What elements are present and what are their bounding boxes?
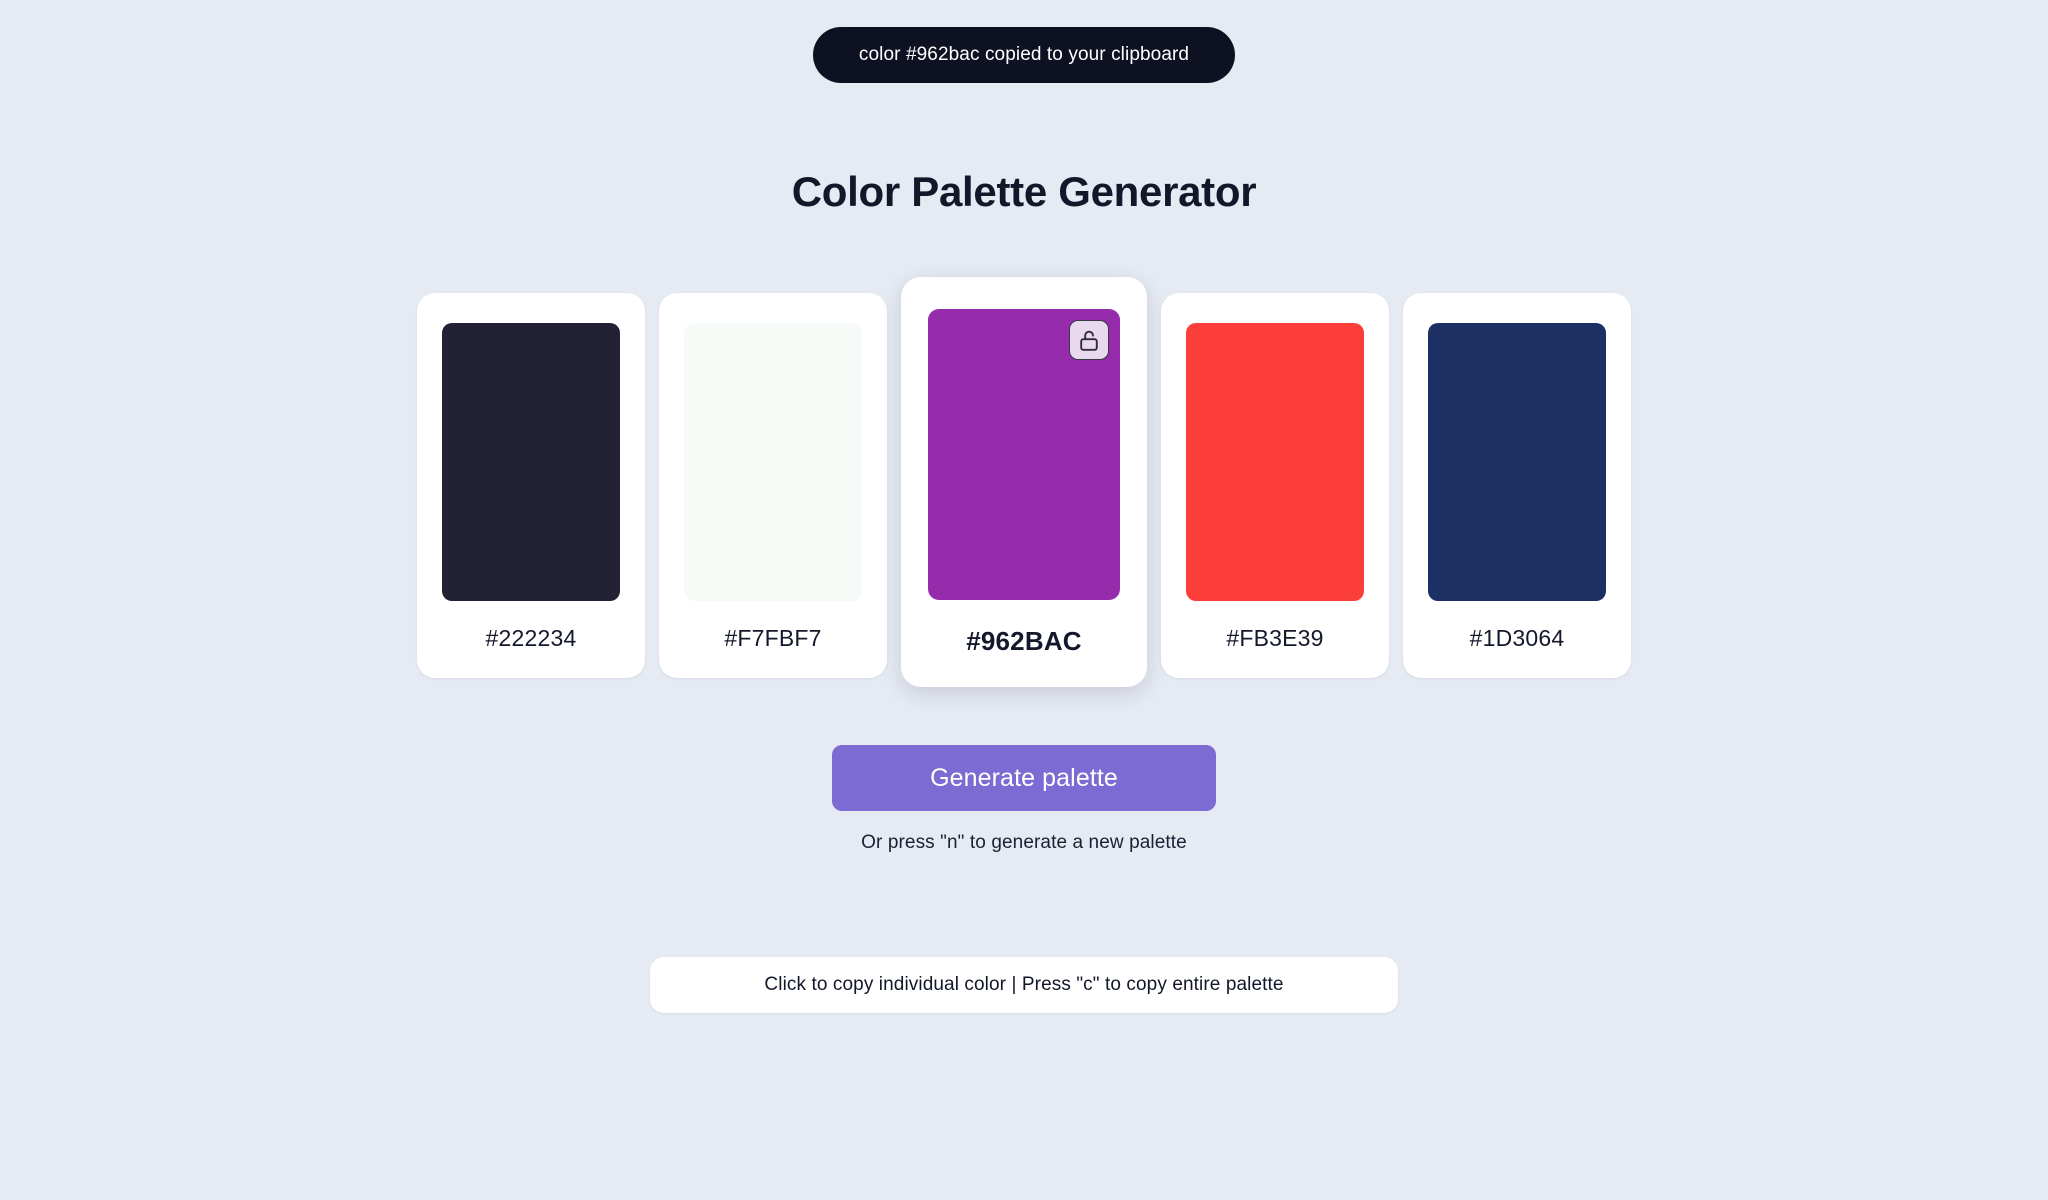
swatch-card[interactable]: #222234 bbox=[417, 293, 645, 678]
swatch-card-active[interactable]: #962BAC bbox=[901, 277, 1147, 687]
copy-hint-bar: Click to copy individual color | Press "… bbox=[650, 957, 1398, 1013]
generate-palette-button[interactable]: Generate palette bbox=[832, 745, 1216, 811]
palette-row: #222234 #F7FBF7 #962BAC #FB3E39 #1D3064 bbox=[0, 260, 2048, 540]
footer-container: Click to copy individual color | Press "… bbox=[0, 957, 2048, 1013]
clipboard-toast: color #962bac copied to your clipboard bbox=[813, 27, 1235, 83]
color-chip[interactable] bbox=[442, 323, 620, 601]
color-chip[interactable] bbox=[1186, 323, 1364, 601]
swatch-card[interactable]: #FB3E39 bbox=[1161, 293, 1389, 678]
generate-section: Generate palette Or press "n" to generat… bbox=[0, 745, 2048, 854]
color-chip[interactable] bbox=[1428, 323, 1606, 601]
swatch-hex-label: #222234 bbox=[486, 625, 577, 652]
color-chip[interactable] bbox=[684, 323, 862, 601]
swatch-hex-label: #FB3E39 bbox=[1226, 625, 1323, 652]
swatch-card[interactable]: #F7FBF7 bbox=[659, 293, 887, 678]
swatch-hex-label: #1D3064 bbox=[1470, 625, 1565, 652]
swatch-hex-label: #962BAC bbox=[966, 626, 1082, 657]
copy-hint-text: Click to copy individual color | Press "… bbox=[764, 974, 1283, 996]
page-title: Color Palette Generator bbox=[0, 168, 2048, 216]
swatch-hex-label: #F7FBF7 bbox=[724, 625, 821, 652]
swatch-card[interactable]: #1D3064 bbox=[1403, 293, 1631, 678]
toast-message: color #962bac copied to your clipboard bbox=[859, 44, 1189, 66]
unlock-icon bbox=[1078, 328, 1100, 352]
unlock-icon-button[interactable] bbox=[1069, 320, 1109, 360]
color-chip[interactable] bbox=[928, 309, 1120, 600]
generate-keyboard-hint: Or press "n" to generate a new palette bbox=[861, 832, 1187, 854]
toast-container: color #962bac copied to your clipboard bbox=[0, 27, 2048, 83]
